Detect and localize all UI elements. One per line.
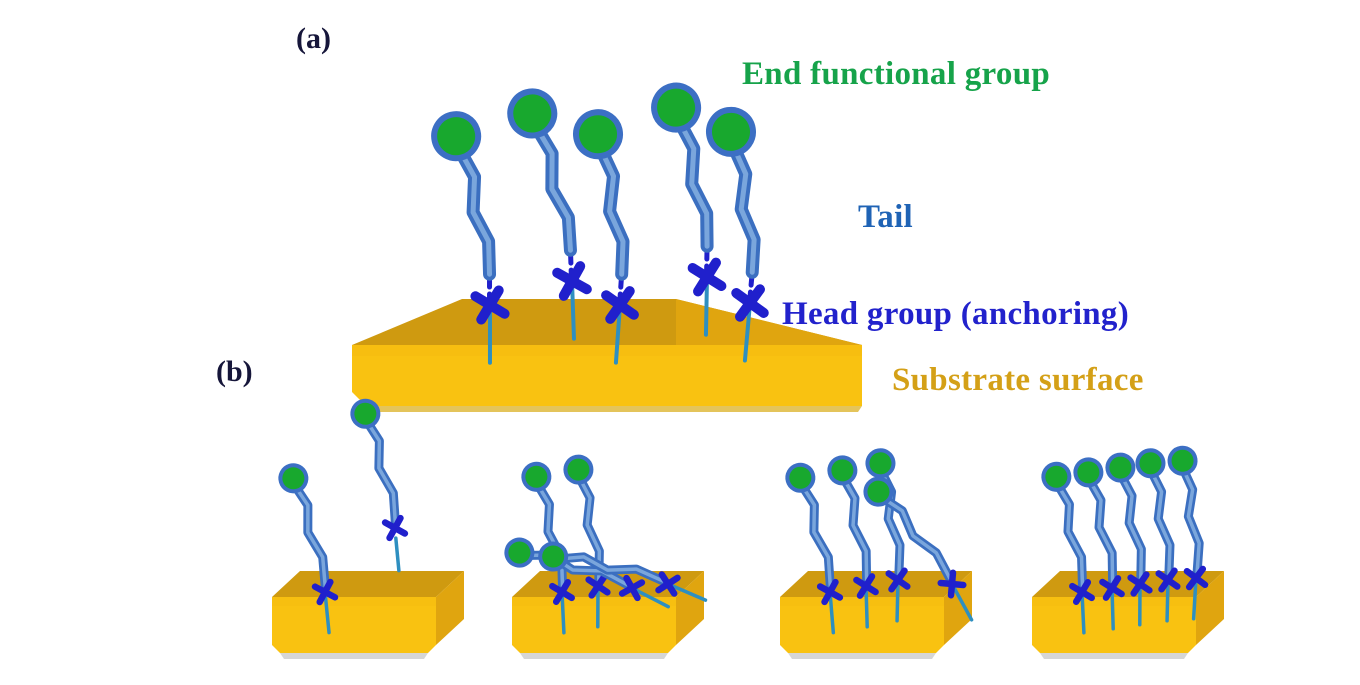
stage-3-group <box>780 448 990 659</box>
stage-2-substrate <box>512 571 704 659</box>
panel-label-b: (b) <box>216 355 253 389</box>
stage-4-group <box>1032 446 1224 659</box>
figure-canvas: (a) End functional group Tail Head group… <box>0 0 1360 685</box>
stage-1-substrate <box>272 571 464 659</box>
panel-b-graphics <box>0 0 1360 685</box>
stage-2-group <box>503 454 710 659</box>
stage-1-group <box>272 398 464 659</box>
